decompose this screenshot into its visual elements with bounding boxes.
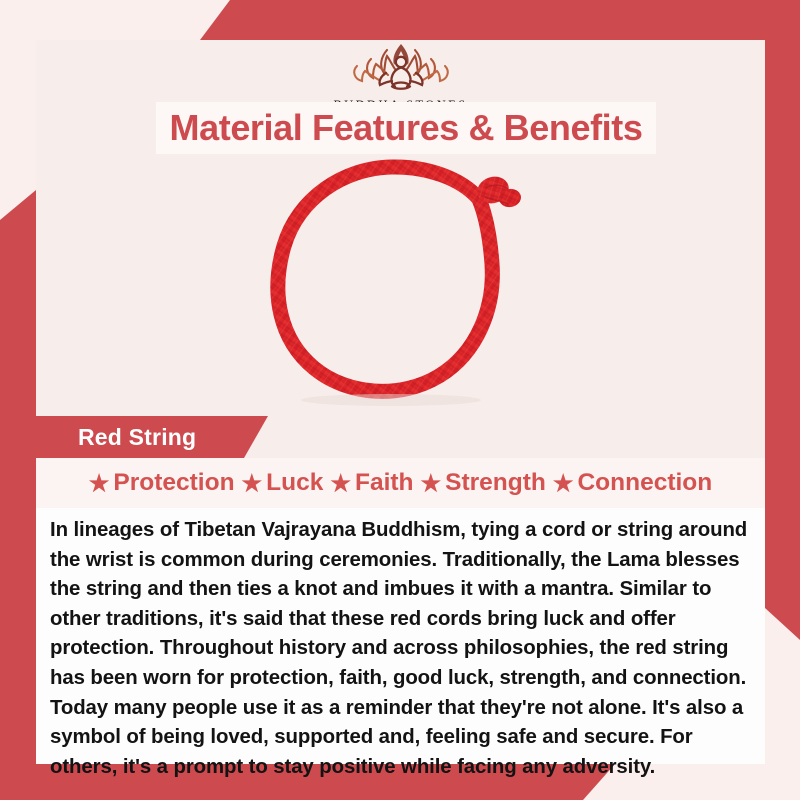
title-banner: Material Features & Benefits <box>156 102 656 154</box>
description-text: In lineages of Tibetan Vajrayana Buddhis… <box>50 516 751 782</box>
star-icon: ★ <box>89 472 110 495</box>
star-icon: ★ <box>330 472 351 495</box>
brand-logo: BUDDHA STONES <box>36 40 765 102</box>
red-braided-string-bracelet-icon <box>236 154 566 416</box>
card-inner: BUDDHA STONES Material Features & Benefi… <box>36 40 765 764</box>
material-label-ribbon: Red String <box>36 416 268 458</box>
left-accent-band <box>0 190 36 800</box>
benefit-item-strength: ★ Strength <box>421 469 546 497</box>
benefits-list: ★ Protection ★ Luck ★ Faith ★ Strength ★… <box>36 458 765 508</box>
infographic-card: BUDDHA STONES Material Features & Benefi… <box>0 0 800 800</box>
top-accent-band <box>200 0 800 40</box>
right-accent-band <box>765 0 800 640</box>
benefit-label: Connection <box>577 469 712 497</box>
benefit-label: Luck <box>266 469 323 497</box>
page-title: Material Features & Benefits <box>170 107 643 149</box>
lotus-meditation-icon <box>340 40 462 97</box>
star-icon: ★ <box>421 472 442 495</box>
benefit-label: Faith <box>355 469 414 497</box>
product-image <box>36 154 765 416</box>
benefit-label: Protection <box>113 469 234 497</box>
star-icon: ★ <box>242 472 263 495</box>
benefit-label: Strength <box>445 469 546 497</box>
benefit-item-protection: ★ Protection <box>89 469 235 497</box>
star-icon: ★ <box>553 472 574 495</box>
description-block: In lineages of Tibetan Vajrayana Buddhis… <box>36 508 765 764</box>
benefit-item-connection: ★ Connection <box>553 469 712 497</box>
benefit-item-luck: ★ Luck <box>242 469 324 497</box>
material-label: Red String <box>78 424 196 451</box>
benefit-item-faith: ★ Faith <box>330 469 413 497</box>
